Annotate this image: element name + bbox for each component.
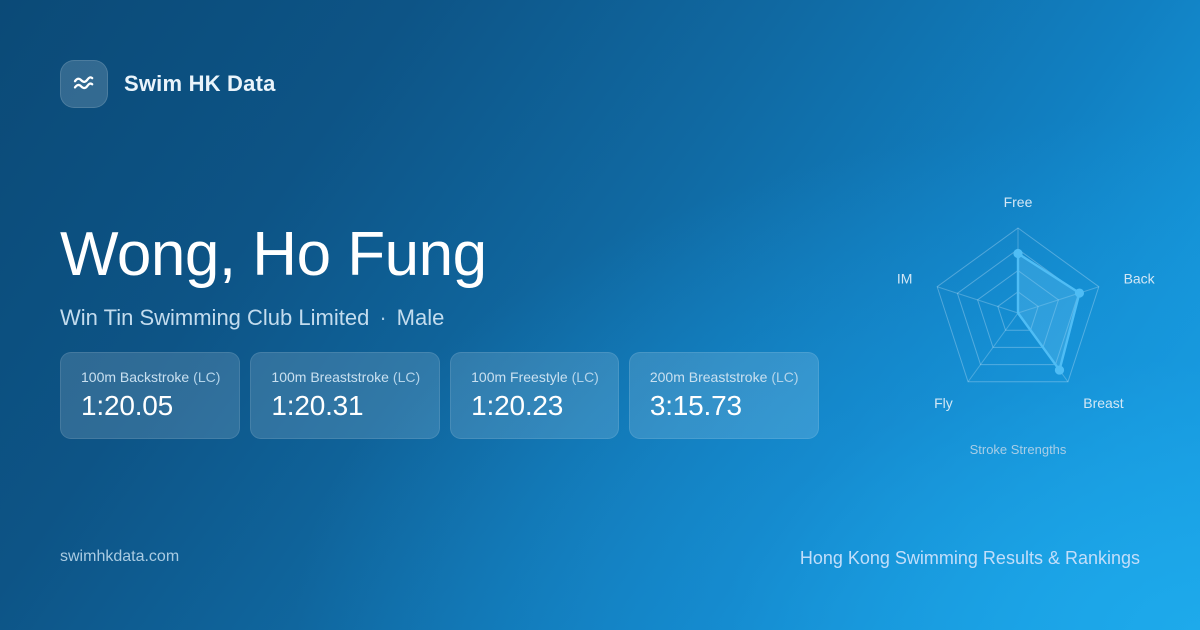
- best-time-card: 100m Backstroke(LC) 1:20.05: [60, 352, 240, 439]
- stat-event: 100m Backstroke: [81, 369, 189, 385]
- radar-svg: FreeBackBreastFlyIM: [868, 160, 1168, 460]
- best-time-card: 200m Breaststroke(LC) 3:15.73: [629, 352, 819, 439]
- gender-label: Male: [397, 305, 445, 330]
- stat-event: 200m Breaststroke: [650, 369, 768, 385]
- radar-point-breast: [1055, 365, 1064, 374]
- radar-caption: Stroke Strengths: [868, 442, 1168, 457]
- radar-point-back: [1075, 288, 1084, 297]
- radar-label-free: Free: [1004, 194, 1033, 210]
- best-times-list: 100m Backstroke(LC) 1:20.05 100m Breasts…: [60, 352, 819, 439]
- stat-event: 100m Freestyle: [471, 369, 567, 385]
- stroke-strengths-radar: FreeBackBreastFlyIM Stroke Strengths: [868, 160, 1168, 470]
- swimmer-meta: Win Tin Swimming Club Limited·Male: [60, 305, 487, 331]
- stat-course: (LC): [393, 369, 420, 385]
- radar-spoke: [937, 287, 1018, 313]
- best-time-card: 100m Breaststroke(LC) 1:20.31: [250, 352, 440, 439]
- brand-name: Swim HK Data: [124, 71, 276, 97]
- radar-label-breast: Breast: [1083, 395, 1124, 411]
- stat-course: (LC): [572, 369, 599, 385]
- brand-lockup: Swim HK Data: [60, 60, 276, 108]
- stat-label: 200m Breaststroke(LC): [650, 369, 799, 385]
- stat-label: 100m Breaststroke(LC): [271, 369, 420, 385]
- radar-label-im: IM: [897, 271, 913, 287]
- headline-block: Wong, Ho Fung Win Tin Swimming Club Limi…: [60, 222, 487, 331]
- radar-label-fly: Fly: [934, 395, 953, 411]
- share-card: Swim HK Data Wong, Ho Fung Win Tin Swimm…: [0, 0, 1200, 630]
- app-logo-mark: [60, 60, 108, 108]
- stat-value: 3:15.73: [650, 390, 799, 422]
- best-time-card: 100m Freestyle(LC) 1:20.23: [450, 352, 619, 439]
- stat-value: 1:20.23: [471, 390, 599, 422]
- meta-separator: ·: [379, 305, 386, 330]
- stat-value: 1:20.05: [81, 390, 220, 422]
- stat-label: 100m Freestyle(LC): [471, 369, 599, 385]
- club-name: Win Tin Swimming Club Limited: [60, 305, 369, 330]
- radar-label-back: Back: [1124, 271, 1156, 287]
- stat-value: 1:20.31: [271, 390, 420, 422]
- footer-site-url: swimhkdata.com: [60, 548, 179, 566]
- stat-course: (LC): [771, 369, 798, 385]
- stat-label: 100m Backstroke(LC): [81, 369, 220, 385]
- radar-point-free: [1013, 249, 1022, 258]
- stat-course: (LC): [193, 369, 220, 385]
- stat-event: 100m Breaststroke: [271, 369, 389, 385]
- wave-approx-icon: [70, 70, 98, 98]
- page-title: Wong, Ho Fung: [60, 222, 487, 287]
- footer-tagline: Hong Kong Swimming Results & Rankings: [800, 548, 1140, 569]
